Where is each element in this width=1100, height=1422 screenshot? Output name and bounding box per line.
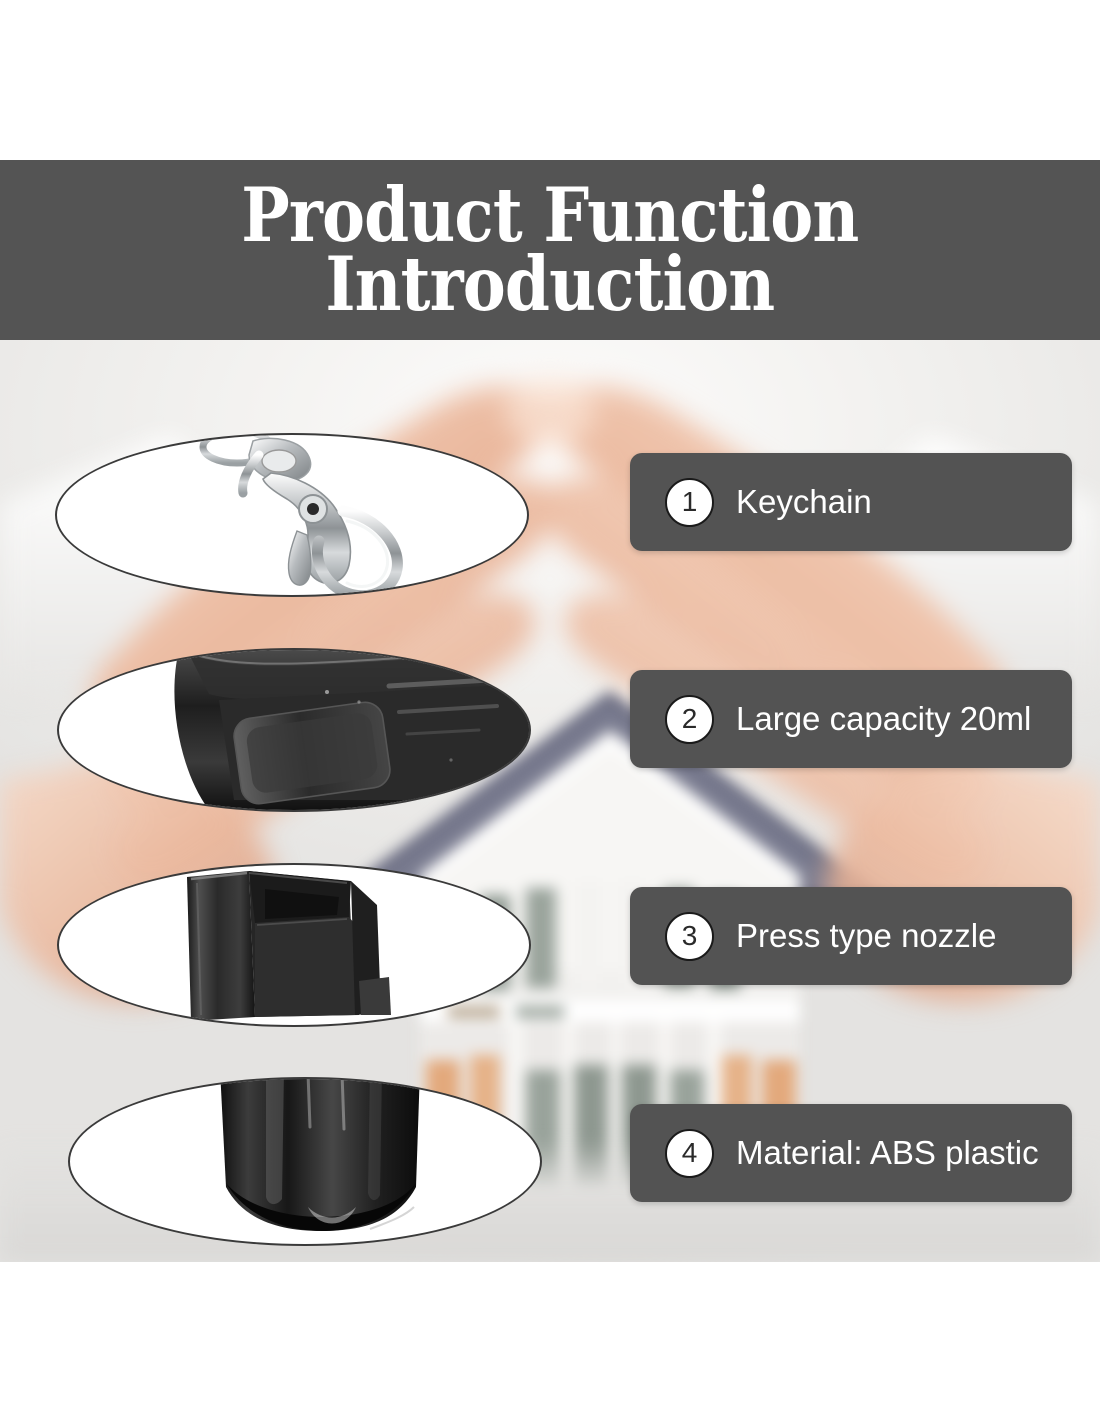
press-nozzle-icon [59,865,529,1025]
feature-bar-nozzle[interactable]: 3 Press type nozzle [630,887,1072,985]
feature-image-bottle-base [68,1077,542,1246]
feature-number-badge: 3 [665,912,714,961]
keychain-clasp-icon [57,435,527,595]
feature-image-press-nozzle [57,863,531,1027]
feature-bar-material[interactable]: 4 Material: ABS plastic [630,1104,1072,1202]
feature-number-badge: 1 [665,478,714,527]
infographic-page: Product Function Introduction [0,0,1100,1422]
feature-image-bottle-body [57,648,531,812]
feature-bar-capacity[interactable]: 2 Large capacity 20ml [630,670,1072,768]
bottle-body-icon [59,650,529,810]
bottom-margin [0,1262,1100,1422]
feature-label-text: Keychain [736,483,872,521]
feature-label-text: Material: ABS plastic [736,1134,1039,1172]
page-title: Product Function Introduction [224,181,876,319]
feature-image-keychain [55,433,529,597]
header-banner: Product Function Introduction [0,160,1100,340]
feature-bar-keychain[interactable]: 1 Keychain [630,453,1072,551]
feature-number-badge: 4 [665,1129,714,1178]
feature-label-text: Large capacity 20ml [736,700,1031,738]
bottle-base-icon [70,1079,540,1244]
feature-label-text: Press type nozzle [736,917,996,955]
feature-number-badge: 2 [665,695,714,744]
